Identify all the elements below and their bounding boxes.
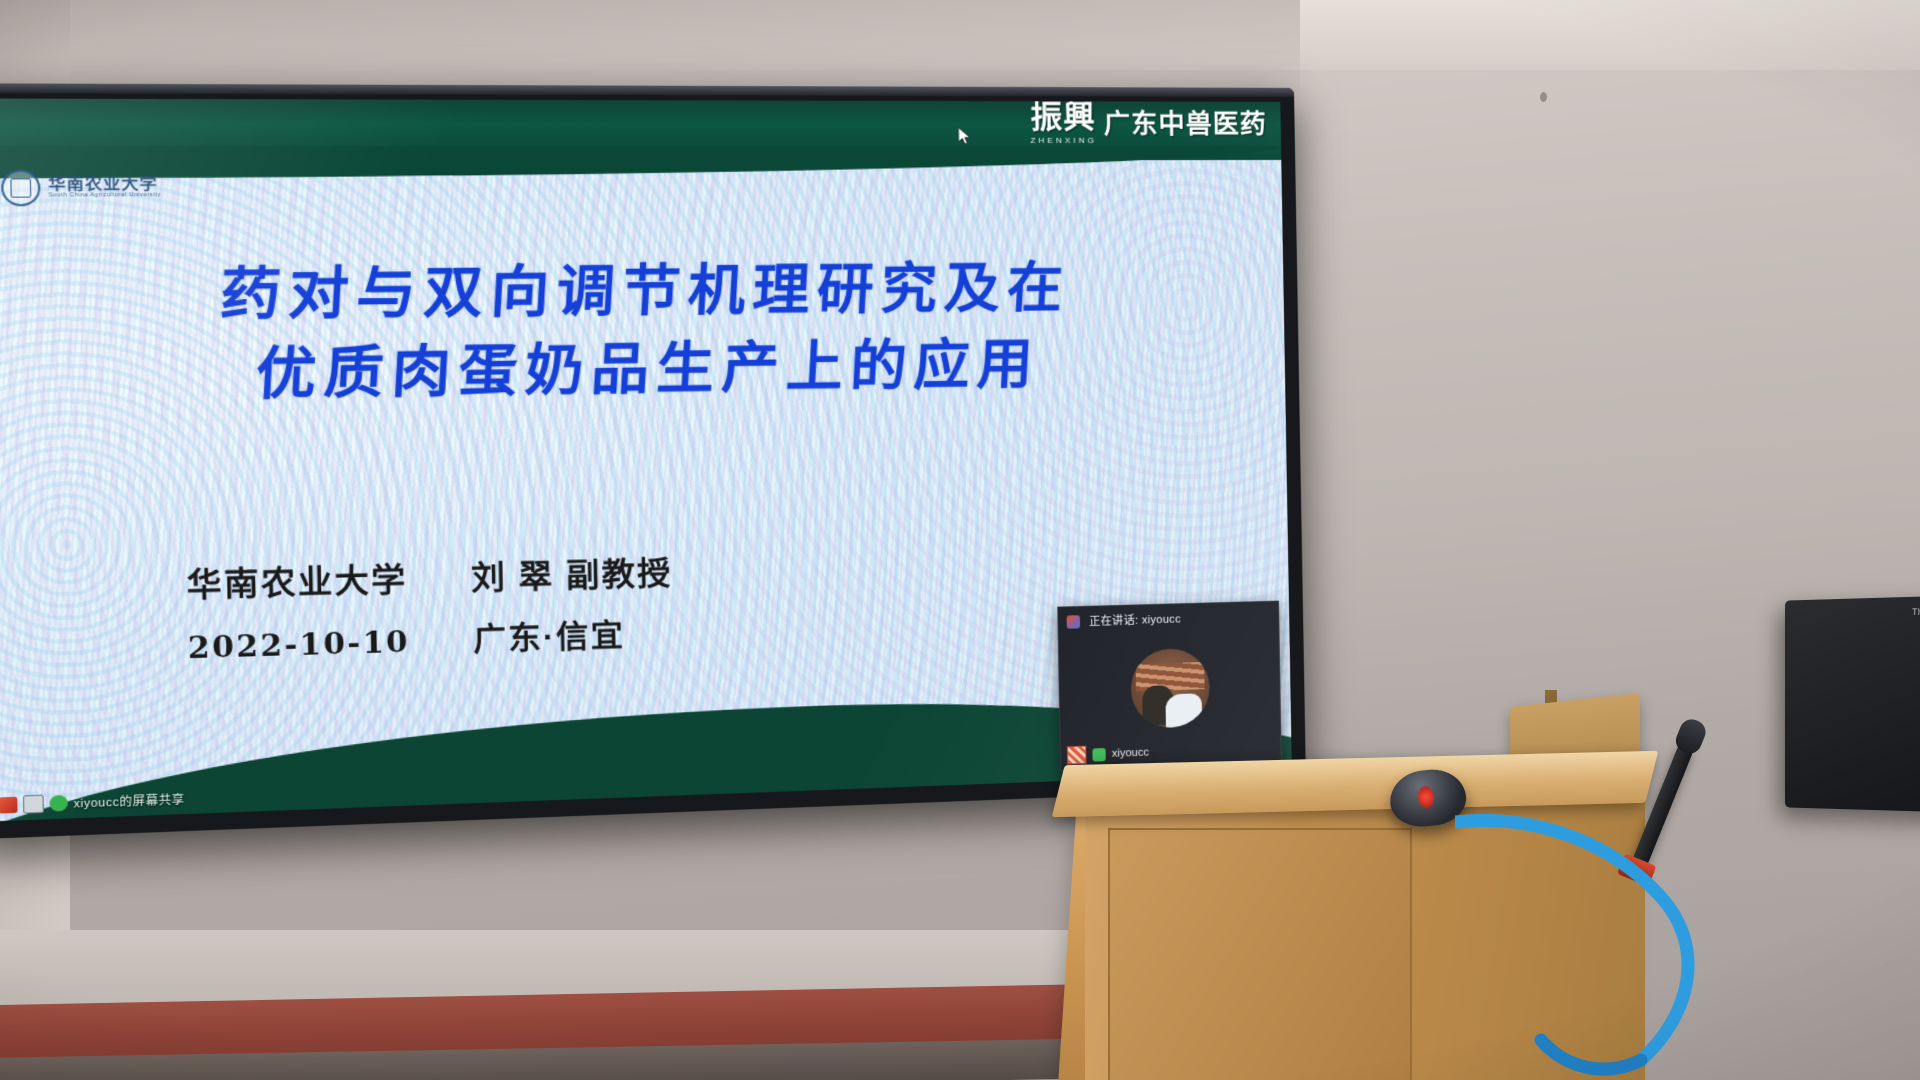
zhenxing-logo: 振興 ZHENXING (1030, 102, 1097, 145)
university-name-en: South China Agricultural University (48, 193, 161, 200)
slide-title-line-1: 药对与双向调节机理研究及在 (0, 248, 1285, 337)
avatar (1130, 648, 1210, 729)
mouse-pointer-icon (958, 128, 971, 146)
conference-banner: 振興 ZHENXING 广东中兽医药 (1030, 102, 1267, 145)
university-name-cn: 华南农业大学 (48, 176, 161, 193)
university-logo: 华南农业大学 South China Agricultural Universi… (1, 169, 161, 206)
app-icon (1067, 746, 1087, 765)
banner-subject: 广东中兽医药 (1103, 103, 1267, 144)
podium-panel (1108, 828, 1412, 1080)
led-display: 振興 ZHENXING 广东中兽医药 华南农业大学 South China Ag… (0, 83, 1306, 839)
mouse-led (1417, 785, 1435, 809)
participant-name: xiyoucc (1112, 746, 1149, 759)
video-panel-footer: xiyoucc (1067, 743, 1149, 764)
presenter-row-2: 2022-10-10 广东·信宜 (187, 608, 674, 668)
slide-title: 药对与双向调节机理研究及在 优质肉蛋奶品生产上的应用 (0, 248, 1285, 417)
wall-mark (1540, 92, 1547, 102)
laptop[interactable]: ThinkPad (1785, 595, 1920, 812)
lecture-room-scene: 振興 ZHENXING 广东中兽医药 华南农业大学 South China Ag… (0, 0, 1920, 1080)
speaking-label: 正在讲话: xiyoucc (1089, 610, 1181, 629)
download-icon (49, 795, 68, 812)
affiliation: 华南农业大学 (186, 553, 408, 606)
microphone-head (1672, 716, 1709, 757)
presenter-row-1: 华南农业大学 刘 翠 副教授 (186, 547, 673, 606)
university-names: 华南农业大学 South China Agricultural Universi… (48, 176, 161, 199)
slide-title-line-2: 优质肉蛋奶品生产上的应用 (0, 323, 1287, 417)
speaker-name: 刘 翠 副教授 (471, 547, 673, 599)
display-bezel: 振興 ZHENXING 广东中兽医药 华南农业大学 South China Ag… (0, 83, 1306, 839)
presentation-location: 广东·信宜 (473, 609, 626, 659)
avatar-shape-3 (1166, 694, 1203, 728)
zhenxing-chinese: 振興 (1030, 102, 1096, 134)
laptop-brand-label: ThinkPad (1912, 606, 1920, 617)
university-seal-icon (1, 170, 41, 207)
presenter-block: 华南农业大学 刘 翠 副教授 2022-10-10 广东·信宜 (186, 547, 674, 683)
monitor-icon (23, 795, 44, 814)
app-icon (0, 797, 17, 814)
banner-swoosh (0, 146, 1282, 178)
presentation-date: 2022-10-10 (187, 624, 410, 665)
zhenxing-pinyin: ZHENXING (1030, 136, 1097, 145)
download-icon (1092, 748, 1105, 762)
mic-icon[interactable] (1067, 615, 1080, 629)
video-panel-header: 正在讲话: xiyoucc (1058, 602, 1278, 636)
avatar-shape-1 (1135, 662, 1205, 691)
display-panel[interactable]: 振興 ZHENXING 广东中兽医药 华南农业大学 South China Ag… (0, 98, 1292, 821)
share-taskbar-label: xiyoucc的屏幕共享 (73, 790, 184, 811)
video-call-panel[interactable]: 正在讲话: xiyoucc xiyoucc (1057, 601, 1282, 771)
